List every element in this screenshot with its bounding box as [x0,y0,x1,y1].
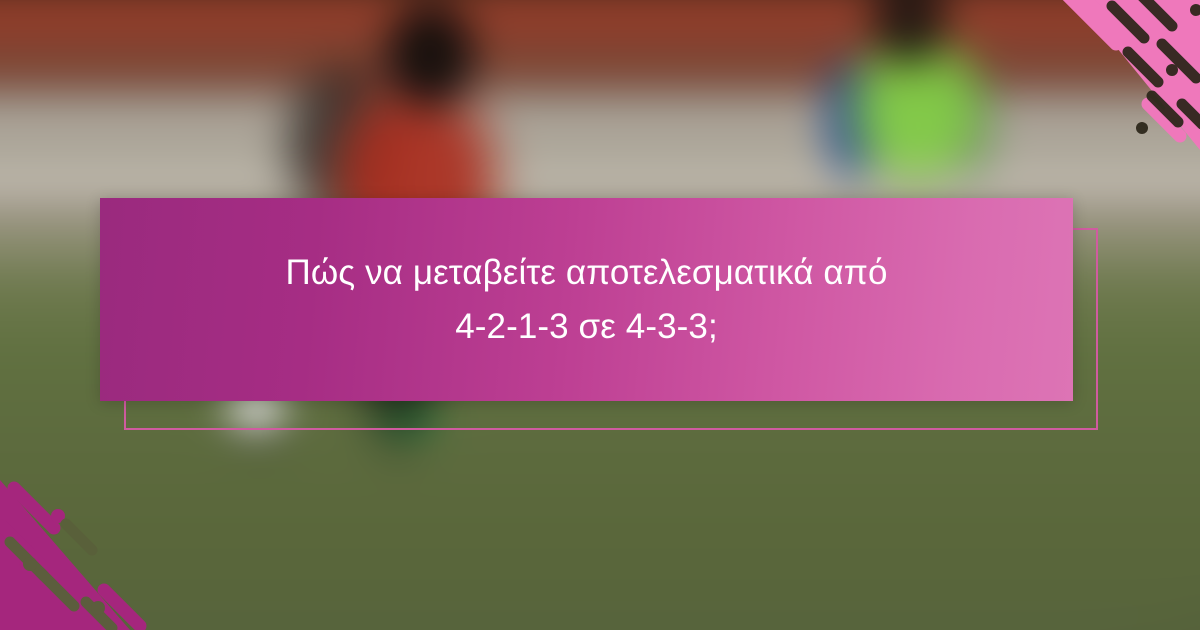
page-title-line-2: 4-2-1-3 σε 4-3-3; [285,300,887,353]
headline-card: Πώς να μεταβείτε αποτελεσματικά από 4-2-… [100,198,1073,401]
share-card-canvas: Πώς να μεταβείτε αποτελεσματικά από 4-2-… [0,0,1200,630]
page-title-line-1: Πώς να μεταβείτε αποτελεσματικά από [285,246,887,299]
page-title: Πώς να μεταβείτε αποτελεσματικά από 4-2-… [259,246,913,352]
